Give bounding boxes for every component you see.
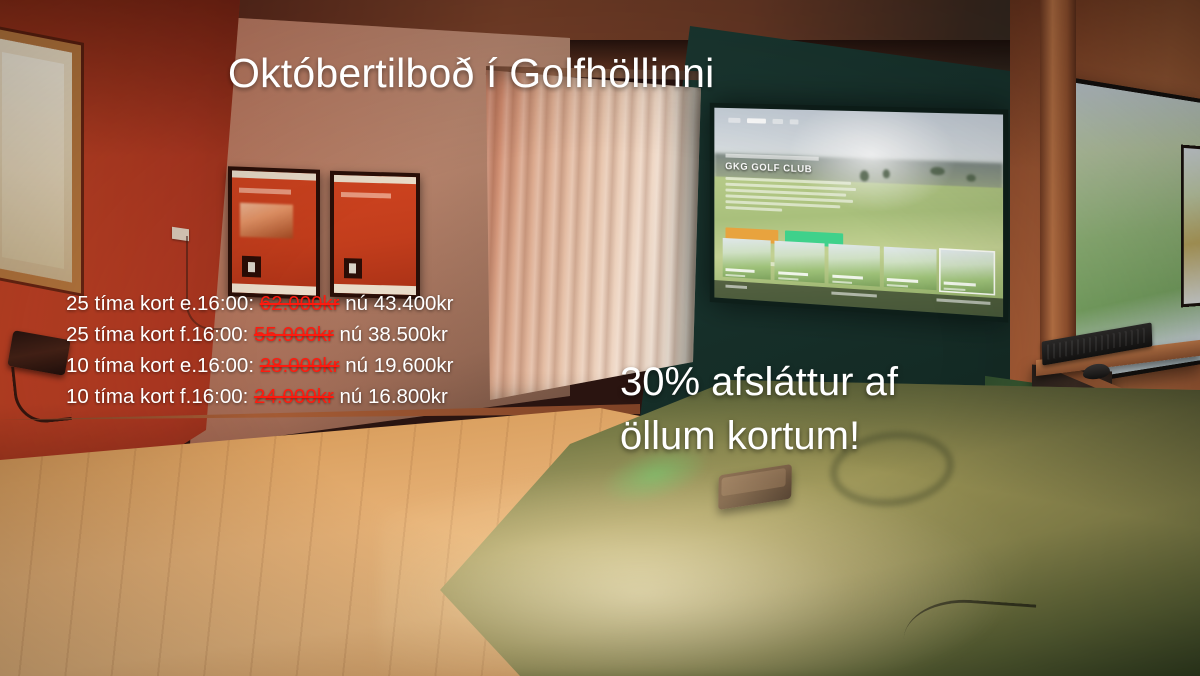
price-old: 24.000kr [254, 385, 334, 408]
projector-screen-content: GKG GOLF CLUB [714, 108, 1003, 317]
price-now-prefix: nú [340, 385, 363, 408]
price-row: 10 tíma kort e.16:00: 28.000kr nú 19.600… [66, 350, 454, 381]
wall-poster [228, 166, 320, 300]
projector-screen: GKG GOLF CLUB [710, 103, 1009, 323]
screen-course-panel: GKG GOLF CLUB [725, 154, 857, 219]
screen-thumbnail [829, 244, 880, 287]
curtain [486, 70, 701, 400]
price-old: 55.000kr [254, 323, 334, 346]
price-old: 62.000kr [260, 292, 340, 315]
screen-thumbnail [884, 247, 936, 291]
price-old: 28.000kr [260, 354, 340, 377]
price-label: 10 tíma kort e.16:00: [66, 354, 254, 377]
floor-light-glow [380, 470, 1000, 676]
promo-image: GKG GOLF CLUB [0, 0, 1200, 676]
window-pane [2, 52, 64, 269]
price-now: 19.600kr [374, 354, 454, 377]
price-row: 25 tíma kort f.16:00: 55.000kr nú 38.500… [66, 319, 454, 350]
page-title: Októbertilboð í Golfhöllinni [228, 50, 714, 97]
price-list: 25 tíma kort e.16:00: 62.000kr nú 43.400… [66, 288, 454, 412]
price-label: 25 tíma kort f.16:00: [66, 323, 248, 346]
screen-thumbnail [775, 241, 825, 283]
price-now: 38.500kr [368, 323, 448, 346]
wall-poster [330, 171, 420, 300]
screen-course-title: GKG GOLF CLUB [725, 162, 857, 177]
screen-thumbnail-selected [940, 250, 994, 294]
price-now-prefix: nú [345, 354, 368, 377]
price-row: 25 tíma kort e.16:00: 62.000kr nú 43.400… [66, 288, 454, 319]
price-now-prefix: nú [340, 323, 363, 346]
discount-line-2: öllum kortum! [620, 409, 898, 463]
discount-line-1: 30% afsláttur af [620, 355, 898, 409]
price-now-prefix: nú [345, 292, 368, 315]
price-row: 10 tíma kort f.16:00: 24.000kr nú 16.800… [66, 381, 454, 412]
price-label: 25 tíma kort e.16:00: [66, 292, 254, 315]
screen-thumbnail [722, 238, 771, 280]
discount-callout: 30% afsláttur af öllum kortum! [620, 355, 898, 463]
price-label: 10 tíma kort f.16:00: [66, 385, 248, 408]
secondary-monitor [1181, 145, 1200, 308]
price-now: 43.400kr [374, 292, 454, 315]
price-now: 16.800kr [368, 385, 448, 408]
